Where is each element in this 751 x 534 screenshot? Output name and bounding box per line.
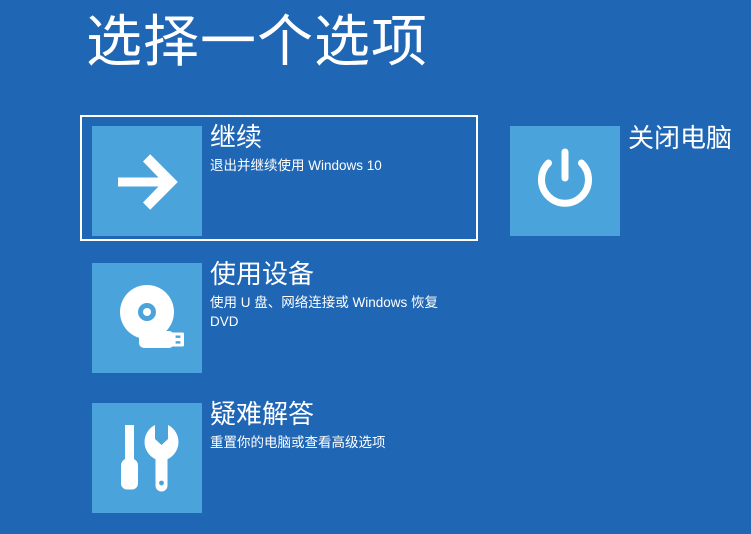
arrow-right-icon [92,126,202,236]
option-turn-off-pc-label: 关闭电脑 [628,121,732,155]
disc-usb-device-icon [92,263,202,373]
power-icon [510,126,620,236]
option-continue-text: 继续 退出并继续使用 Windows 10 [210,120,478,175]
option-use-a-device-tile[interactable] [92,263,202,373]
option-turn-off-pc-tile[interactable] [510,126,620,236]
option-troubleshoot-tile[interactable] [92,403,202,513]
option-use-a-device-title: 使用设备 [210,257,478,291]
option-continue[interactable]: 继续 退出并继续使用 Windows 10 [92,126,482,236]
option-troubleshoot-title: 疑难解答 [210,397,478,431]
option-continue-subtitle: 退出并继续使用 Windows 10 [210,156,462,175]
option-troubleshoot[interactable]: 疑难解答 重置你的电脑或查看高级选项 [92,403,482,513]
option-use-a-device-subtitle: 使用 U 盘、网络连接或 Windows 恢复 DVD [210,293,462,331]
option-troubleshoot-subtitle: 重置你的电脑或查看高级选项 [210,433,462,452]
option-use-a-device[interactable]: 使用设备 使用 U 盘、网络连接或 Windows 恢复 DVD [92,263,482,373]
option-use-a-device-text: 使用设备 使用 U 盘、网络连接或 Windows 恢复 DVD [210,257,478,331]
option-troubleshoot-text: 疑难解答 重置你的电脑或查看高级选项 [210,397,478,452]
option-continue-title: 继续 [210,120,478,154]
option-continue-tile[interactable] [92,126,202,236]
choose-an-option-screen: 选择一个选项 继续 退出并继续使用 Windows 10 [0,0,751,534]
screwdriver-wrench-icon [92,403,202,513]
page-title: 选择一个选项 [86,6,428,78]
